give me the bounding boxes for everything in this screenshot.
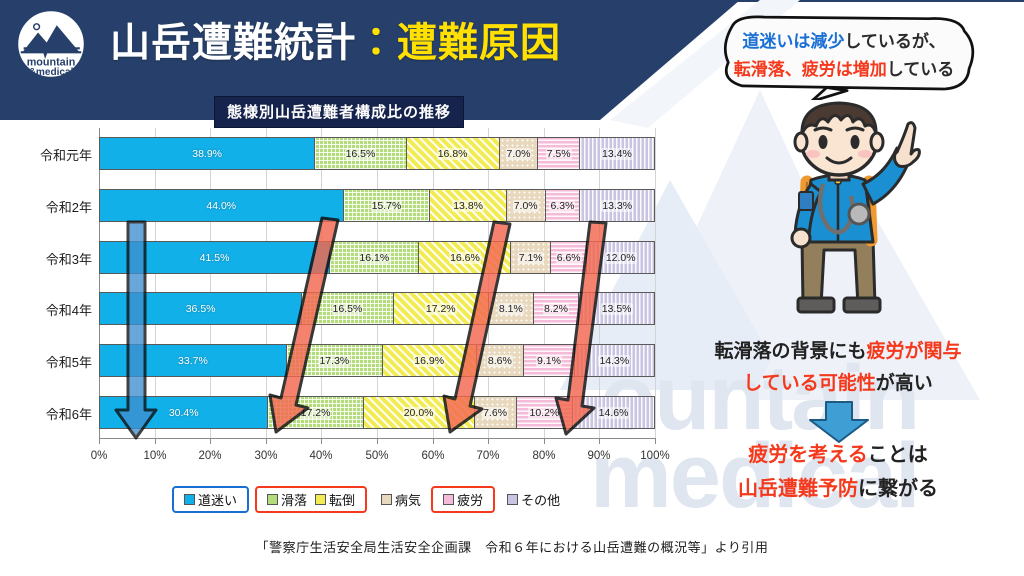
speech-bubble-text: 道迷いは減少しているが、 転滑落、疲労は増加している <box>694 28 994 84</box>
legend-item-転倒[interactable]: 転倒 <box>315 490 355 509</box>
legend-swatch-icon <box>443 494 454 505</box>
bar-segment-疲労[interactable]: 10.2% <box>517 397 574 428</box>
bar-segment-疲労[interactable]: 8.2% <box>534 293 579 324</box>
legend-label: 病気 <box>395 490 421 509</box>
bar-segment-value-label: 14.3% <box>598 355 630 367</box>
legend-swatch-icon <box>507 494 518 505</box>
x-axis-tick <box>544 438 545 444</box>
x-axis-tick-label: 20% <box>198 450 221 462</box>
gridline <box>433 128 434 438</box>
x-axis-tick <box>266 438 267 444</box>
x-axis-tick-label: 10% <box>143 450 166 462</box>
bar-segment-道迷い[interactable]: 44.0% <box>100 190 344 221</box>
bar-segment-value-label: 36.5% <box>185 303 217 315</box>
bar-segment-value-label: 7.0% <box>506 148 532 160</box>
x-axis-tick <box>655 438 656 444</box>
legend-swatch-icon <box>184 494 195 505</box>
bar-segment-value-label: 10.2% <box>528 407 560 419</box>
bar-segment-value-label: 6.3% <box>549 200 575 212</box>
legend-item-その他[interactable]: その他 <box>507 490 560 509</box>
concl2-line1-b: ことは <box>868 444 928 466</box>
bar-segment-病気[interactable]: 7.6% <box>475 397 517 428</box>
bar-segment-value-label: 7.1% <box>518 252 544 264</box>
bar-segment-その他[interactable]: 12.0% <box>587 242 654 273</box>
bar-row[interactable]: 38.9%16.5%16.8%7.0%7.5%13.4% <box>99 137 655 170</box>
bar-segment-value-label: 38.9% <box>191 148 223 160</box>
bar-segment-value-label: 20.0% <box>403 407 435 419</box>
bar-segment-疲労[interactable]: 7.5% <box>538 138 580 169</box>
bar-segment-滑落[interactable]: 17.2% <box>268 397 363 428</box>
bar-segment-転倒[interactable]: 13.8% <box>430 190 506 221</box>
bubble-line1-highlight: 道迷いは減少 <box>742 32 844 51</box>
legend-item-病気[interactable]: 病気 <box>381 490 421 509</box>
bubble-line2-rest: している <box>887 60 955 79</box>
bar-segment-転倒[interactable]: 17.2% <box>394 293 489 324</box>
bar-row[interactable]: 44.0%15.7%13.8%7.0%6.3%13.3% <box>99 189 655 222</box>
bar-segment-転倒[interactable]: 16.9% <box>383 345 477 376</box>
conclusion-text-2: 疲労を考えることは 山岳遭難予防に繋がる <box>660 438 1016 506</box>
bar-segment-道迷い[interactable]: 33.7% <box>100 345 287 376</box>
bar-segment-value-label: 17.2% <box>300 407 332 419</box>
gridline <box>210 128 211 438</box>
x-axis-tick <box>99 438 100 444</box>
plot-area: 38.9%16.5%16.8%7.0%7.5%13.4%44.0%15.7%13… <box>99 128 655 438</box>
bar-segment-病気[interactable]: 7.1% <box>511 242 550 273</box>
gridline <box>266 128 267 438</box>
bar-segment-病気[interactable]: 8.1% <box>489 293 534 324</box>
gridline <box>321 128 322 438</box>
legend-highlight-hirou: 疲労 <box>431 486 495 513</box>
bar-segment-病気[interactable]: 7.0% <box>507 190 546 221</box>
legend-label: 疲労 <box>457 490 483 509</box>
bar-segment-value-label: 12.0% <box>605 252 637 264</box>
bar-segment-value-label: 8.1% <box>498 303 524 315</box>
gridline <box>544 128 545 438</box>
y-axis-category-label: 令和元年 <box>0 145 92 164</box>
bar-segment-その他[interactable]: 14.6% <box>573 397 654 428</box>
gridline <box>377 128 378 438</box>
y-axis-line <box>99 128 100 438</box>
bar-segment-value-label: 7.5% <box>546 148 572 160</box>
citation-text: 「警察庁生活安全局生活安全企画課 令和６年における山岳遭難の概況等」より引用 <box>0 537 1024 556</box>
bar-segment-value-label: 13.5% <box>601 303 633 315</box>
x-axis-tick-label: 40% <box>309 450 332 462</box>
bar-row[interactable]: 41.5%16.1%16.6%7.1%6.6%12.0% <box>99 241 655 274</box>
y-axis-category-label: 令和6年 <box>0 404 92 423</box>
x-axis-tick <box>599 438 600 444</box>
concl2-line2-b: に繋がる <box>858 478 938 500</box>
bar-segment-value-label: 16.5% <box>345 148 377 160</box>
bar-segment-滑落[interactable]: 16.5% <box>315 138 406 169</box>
x-axis-tick-label: 70% <box>476 450 499 462</box>
chart-legend: 道迷い滑落転倒病気疲労その他 <box>172 486 570 513</box>
y-axis-category-label: 令和5年 <box>0 352 92 371</box>
legend-item-道迷い[interactable]: 道迷い <box>184 490 237 509</box>
bar-segment-疲労[interactable]: 9.1% <box>524 345 574 376</box>
bar-segment-道迷い[interactable]: 41.5% <box>100 242 330 273</box>
bar-row[interactable]: 30.4%17.2%20.0%7.6%10.2%14.6% <box>99 396 655 429</box>
bar-segment-道迷い[interactable]: 38.9% <box>100 138 315 169</box>
legend-label: その他 <box>521 490 560 509</box>
bar-segment-道迷い[interactable]: 30.4% <box>100 397 268 428</box>
page-title: 山岳遭難統計：遭難原因 <box>110 12 561 74</box>
bar-segment-value-label: 14.6% <box>598 407 630 419</box>
bar-segment-value-label: 17.3% <box>318 355 350 367</box>
concl1-line2-b: が高い <box>876 373 933 394</box>
concl1-line1-a: 転滑落の背景にも <box>714 341 866 362</box>
bar-segment-転倒[interactable]: 20.0% <box>364 397 475 428</box>
bubble-line2-highlight: 転滑落、疲労は増加 <box>734 60 887 79</box>
bar-segment-その他[interactable]: 13.5% <box>579 293 654 324</box>
bar-segment-value-label: 13.4% <box>601 148 633 160</box>
bar-segment-value-label: 33.7% <box>177 355 209 367</box>
gridline <box>155 128 156 438</box>
legend-plain-sonota: その他 <box>497 488 570 511</box>
bar-segment-value-label: 7.6% <box>482 407 508 419</box>
bar-segment-value-label: 6.6% <box>556 252 582 264</box>
x-axis-tick <box>321 438 322 444</box>
concl2-line2-a: 山岳遭難予防 <box>738 478 858 500</box>
stacked-bar-chart: 38.9%16.5%16.8%7.0%7.5%13.4%44.0%15.7%13… <box>0 128 690 518</box>
bar-segment-value-label: 16.1% <box>358 252 390 264</box>
y-axis-category-label: 令和4年 <box>0 300 92 319</box>
chart-title: 態様別山岳遭難者構成比の推移 <box>214 96 464 128</box>
y-axis-category-label: 令和3年 <box>0 249 92 268</box>
concl2-line1-a: 疲労を考える <box>748 444 867 466</box>
x-axis-tick <box>433 438 434 444</box>
bar-segment-その他[interactable]: 13.4% <box>580 138 654 169</box>
page-title-part2: ：遭難原因 <box>356 21 561 65</box>
bar-row[interactable]: 36.5%16.5%17.2%8.1%8.2%13.5% <box>99 292 655 325</box>
legend-swatch-icon <box>267 494 278 505</box>
x-axis-tick-label: 30% <box>254 450 277 462</box>
bar-segment-value-label: 30.4% <box>168 407 200 419</box>
bar-segment-value-label: 7.0% <box>513 200 539 212</box>
legend-swatch-icon <box>381 494 392 505</box>
page-title-part1: 山岳遭難統計 <box>110 21 356 65</box>
legend-label: 滑落 <box>281 490 307 509</box>
bar-segment-value-label: 8.6% <box>487 355 513 367</box>
bar-segment-value-label: 16.5% <box>332 303 364 315</box>
legend-label: 転倒 <box>329 490 355 509</box>
bar-segment-病気[interactable]: 8.6% <box>477 345 525 376</box>
bar-segment-滑落[interactable]: 17.3% <box>287 345 383 376</box>
bar-segment-value-label: 16.8% <box>437 148 469 160</box>
y-axis-category-label: 令和2年 <box>0 197 92 216</box>
svg-text:&medical: &medical <box>29 67 74 78</box>
bar-segment-転倒[interactable]: 16.8% <box>407 138 500 169</box>
bar-segment-滑落[interactable]: 16.5% <box>302 293 393 324</box>
legend-highlight-michimayoi: 道迷い <box>172 486 249 513</box>
bar-segment-value-label: 44.0% <box>205 200 237 212</box>
concl1-line2-a: している可能性 <box>743 373 875 394</box>
bar-segment-value-label: 17.2% <box>425 303 457 315</box>
legend-label: 道迷い <box>198 490 237 509</box>
bar-segment-疲労[interactable]: 6.3% <box>546 190 581 221</box>
legend-highlight-tenkatsuraku: 滑落転倒 <box>255 486 367 513</box>
x-axis-tick <box>210 438 211 444</box>
bar-segment-病気[interactable]: 7.0% <box>500 138 539 169</box>
bar-segment-value-label: 15.7% <box>371 200 403 212</box>
bar-segment-道迷い[interactable]: 36.5% <box>100 293 302 324</box>
x-axis-tick-label: 60% <box>421 450 444 462</box>
bar-segment-value-label: 16.6% <box>449 252 481 264</box>
legend-swatch-icon <box>315 494 326 505</box>
mountain-doctor-character <box>745 100 935 338</box>
gridline <box>655 128 656 438</box>
mountain-and-medical-logo: mountain &medical <box>14 8 88 80</box>
legend-plain-byouki: 病気 <box>371 488 431 511</box>
bar-segment-その他[interactable]: 13.3% <box>580 190 654 221</box>
bar-segment-滑落[interactable]: 16.1% <box>330 242 419 273</box>
bar-segment-value-label: 16.9% <box>413 355 445 367</box>
bar-segment-転倒[interactable]: 16.6% <box>419 242 511 273</box>
bar-segment-value-label: 9.1% <box>536 355 562 367</box>
legend-item-疲労[interactable]: 疲労 <box>443 490 483 509</box>
gridline <box>488 128 489 438</box>
concl1-line1-b: 疲労が関与 <box>867 341 962 362</box>
legend-item-滑落[interactable]: 滑落 <box>267 490 307 509</box>
bar-segment-value-label: 41.5% <box>199 252 231 264</box>
bar-segment-value-label: 13.3% <box>601 200 633 212</box>
bar-segment-value-label: 13.8% <box>452 200 484 212</box>
x-axis-tick-label: 80% <box>532 450 555 462</box>
bar-segment-滑落[interactable]: 15.7% <box>344 190 431 221</box>
bubble-line1-rest: しているが、 <box>844 32 945 51</box>
bar-segment-value-label: 8.2% <box>543 303 569 315</box>
x-axis-tick <box>377 438 378 444</box>
x-axis-tick <box>488 438 489 444</box>
x-axis-tick-label: 0% <box>91 450 108 462</box>
x-axis-tick <box>155 438 156 444</box>
bar-row[interactable]: 33.7%17.3%16.9%8.6%9.1%14.3% <box>99 344 655 377</box>
x-axis-tick-label: 90% <box>587 450 610 462</box>
gridline <box>599 128 600 438</box>
x-axis-tick-label: 50% <box>365 450 388 462</box>
bar-segment-その他[interactable]: 14.3% <box>575 345 654 376</box>
bar-segment-疲労[interactable]: 6.6% <box>551 242 588 273</box>
conclusion-text-1: 転滑落の背景にも疲労が関与 している可能性が高い <box>660 336 1016 400</box>
